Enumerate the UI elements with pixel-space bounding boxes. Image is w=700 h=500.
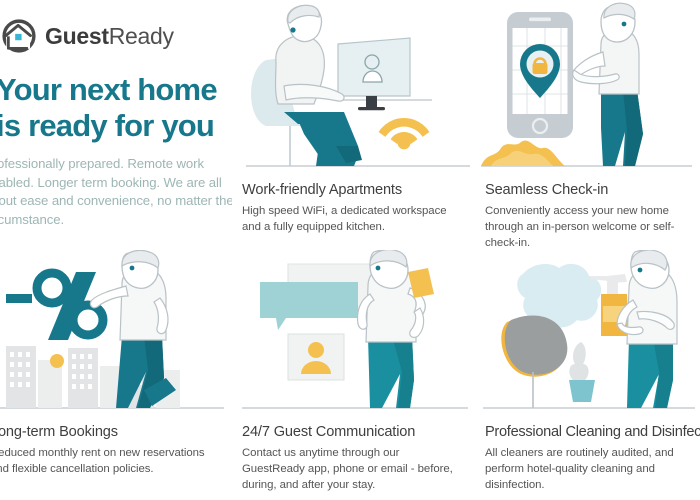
feature-text: Seamless Check-in Conveniently access yo…	[477, 178, 700, 250]
landing-page: GuestReady Your next home is ready for y…	[0, 0, 700, 500]
feature-card-long-term-bookings: Long-term Bookings Reduced monthly rent …	[0, 250, 232, 500]
feature-title: Long-term Bookings	[0, 424, 218, 440]
feature-text: Professional Cleaning and Disinfection A…	[477, 418, 700, 494]
feature-text: Long-term Bookings Reduced monthly rent …	[0, 418, 232, 477]
hero-subtitle: Professionally prepared. Remote work ena…	[0, 155, 232, 230]
page-title: Your next home is ready for you	[0, 72, 218, 144]
chat-bubbles-person-with-phone-icon	[232, 250, 477, 418]
feature-card-guest-communication: 24/7 Guest Communication Contact us anyt…	[232, 250, 477, 500]
feature-card-seamless-check-in: Seamless Check-in Conveniently access yo…	[477, 0, 700, 250]
brand-name-light: Ready	[109, 23, 174, 49]
hero-title-line-2: is ready for you	[0, 108, 218, 144]
feature-title: Professional Cleaning and Disinfection	[485, 424, 700, 440]
hero-title-line-1: Your next home	[0, 72, 218, 108]
feature-card-professional-cleaning: Professional Cleaning and Disinfection A…	[477, 250, 700, 500]
discount-percent-cityscape-person-icon	[0, 250, 232, 418]
feature-body: Reduced monthly rent on new reservations…	[0, 445, 218, 477]
feature-text: 24/7 Guest Communication Contact us anyt…	[232, 418, 477, 494]
feature-grid: GuestReady Your next home is ready for y…	[0, 0, 700, 500]
feature-title: Work-friendly Apartments	[242, 182, 463, 198]
feature-body: Conveniently access your new home throug…	[485, 203, 700, 250]
phone-map-pin-lock-person-icon	[477, 0, 700, 178]
brand-logo[interactable]: GuestReady	[2, 18, 218, 54]
brand-name-bold: Guest	[45, 23, 109, 49]
brand-wordmark: GuestReady	[45, 23, 174, 50]
feature-body: Contact us anytime through our GuestRead…	[242, 445, 463, 494]
feature-card-work-friendly-apartments: Work-friendly Apartments High speed WiFi…	[232, 0, 477, 250]
person-spraying-disinfectant-chair-plant-icon	[477, 250, 700, 418]
hero-section: GuestReady Your next home is ready for y…	[0, 0, 232, 250]
feature-title: Seamless Check-in	[485, 182, 700, 198]
feature-title: 24/7 Guest Communication	[242, 424, 463, 440]
feature-body: High speed WiFi, a dedicated workspace a…	[242, 203, 463, 235]
guestready-house-logo-icon	[2, 19, 36, 53]
person-at-desk-with-wifi-icon	[232, 0, 477, 178]
feature-body: All cleaners are routinely audited, and …	[485, 445, 700, 494]
feature-text: Work-friendly Apartments High speed WiFi…	[232, 178, 477, 235]
